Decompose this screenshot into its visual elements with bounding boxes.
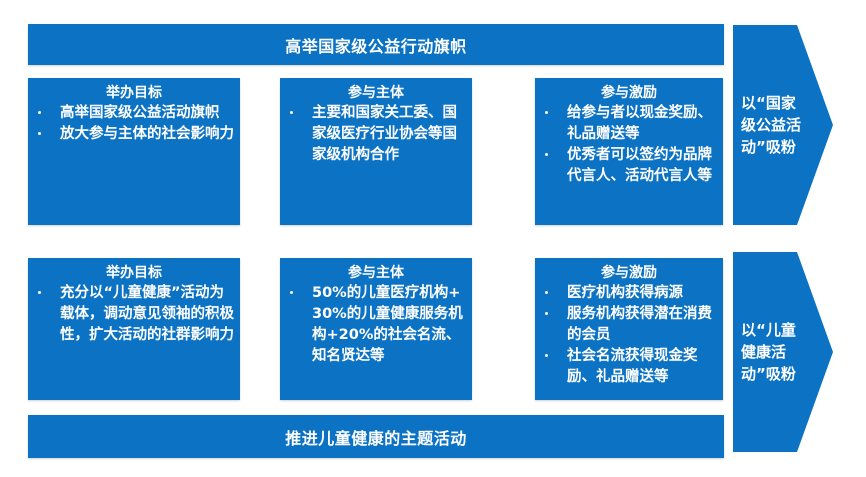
slide-canvas: 高举国家级公益行动旗帜 举办目标 高举国家级公益活动旗帜 放大参与主体的社会影响… (0, 0, 866, 477)
list-item-text: 高举国家级公益活动旗帜 (60, 105, 220, 121)
list-item: 主要和国家关工委、国家级医疗行业协会等国家级机构合作 (286, 103, 466, 166)
list-item: 放大参与主体的社会影响力 (34, 124, 234, 145)
bullet-dot-icon (545, 354, 548, 357)
arrow-label: 以“儿童健康活动”吸粉 (733, 319, 803, 385)
bullet-list: 给参与者以现金奖励、礼品赠送等 优秀者可以签约为品牌代言人、活动代言人等 (535, 103, 723, 187)
arrow-label: 以“国家级公益活动”吸粉 (733, 92, 803, 158)
bottom-banner: 推进儿童健康的主题活动 (28, 415, 724, 458)
card-title: 举办目标 (28, 84, 240, 102)
bullet-dot-icon (545, 153, 548, 156)
bullet-list: 高举国家级公益活动旗帜 放大参与主体的社会影响力 (28, 103, 240, 145)
bullet-dot-icon (545, 291, 548, 294)
bullet-dot-icon (290, 111, 293, 114)
arrow-row2-outcome[interactable]: 以“儿童健康活动”吸粉 (733, 252, 833, 452)
list-item: 医疗机构获得病源 (541, 283, 717, 304)
card-title: 参与主体 (280, 264, 472, 282)
bullet-list: 50%的儿童医疗机构+30%的儿童健康服务机构+20%的社会名流、知名贤达等 (280, 283, 472, 367)
bullet-list: 主要和国家关工委、国家级医疗行业协会等国家级机构合作 (280, 103, 472, 166)
card-title: 参与主体 (280, 84, 472, 102)
list-item: 50%的儿童医疗机构+30%的儿童健康服务机构+20%的社会名流、知名贤达等 (286, 283, 466, 367)
card-title: 举办目标 (28, 264, 240, 282)
list-item: 优秀者可以签约为品牌代言人、活动代言人等 (541, 145, 717, 187)
top-banner: 高举国家级公益行动旗帜 (28, 24, 724, 65)
list-item-text: 医疗机构获得病源 (567, 285, 683, 301)
list-item: 高举国家级公益活动旗帜 (34, 103, 234, 124)
list-item-text: 充分以“儿童健康”活动为载体，调动意见领袖的积极性，扩大活动的社群影响力 (60, 285, 234, 343)
card-row2-incentives[interactable]: 参与激励 医疗机构获得病源 服务机构获得潜在消费的会员 社会名流获得现金奖励、礼… (535, 258, 723, 400)
list-item-text: 放大参与主体的社会影响力 (60, 126, 234, 142)
card-row2-objective[interactable]: 举办目标 充分以“儿童健康”活动为载体，调动意见领袖的积极性，扩大活动的社群影响… (28, 258, 240, 400)
bullet-list: 充分以“儿童健康”活动为载体，调动意见领袖的积极性，扩大活动的社群影响力 (28, 283, 240, 346)
bullet-dot-icon (545, 312, 548, 315)
arrow-row1-outcome[interactable]: 以“国家级公益活动”吸粉 (733, 25, 833, 225)
list-item-text: 社会名流获得现金奖励、礼品赠送等 (567, 348, 698, 385)
bullet-dot-icon (38, 132, 41, 135)
list-item-text: 50%的儿童医疗机构+30%的儿童健康服务机构+20%的社会名流、知名贤达等 (312, 285, 463, 364)
card-row1-objective[interactable]: 举办目标 高举国家级公益活动旗帜 放大参与主体的社会影响力 (28, 78, 240, 225)
card-row1-participants[interactable]: 参与主体 主要和国家关工委、国家级医疗行业协会等国家级机构合作 (280, 78, 472, 225)
list-item-text: 优秀者可以签约为品牌代言人、活动代言人等 (567, 147, 712, 184)
card-title: 参与激励 (535, 84, 723, 102)
list-item: 服务机构获得潜在消费的会员 (541, 304, 717, 346)
card-row2-participants[interactable]: 参与主体 50%的儿童医疗机构+30%的儿童健康服务机构+20%的社会名流、知名… (280, 258, 472, 400)
bullet-dot-icon (38, 111, 41, 114)
bullet-dot-icon (290, 291, 293, 294)
card-title: 参与激励 (535, 264, 723, 282)
bullet-list: 医疗机构获得病源 服务机构获得潜在消费的会员 社会名流获得现金奖励、礼品赠送等 (535, 283, 723, 388)
list-item-text: 主要和国家关工委、国家级医疗行业协会等国家级机构合作 (312, 105, 457, 163)
bullet-dot-icon (38, 291, 41, 294)
list-item: 社会名流获得现金奖励、礼品赠送等 (541, 346, 717, 388)
list-item: 给参与者以现金奖励、礼品赠送等 (541, 103, 717, 145)
list-item-text: 给参与者以现金奖励、礼品赠送等 (567, 105, 712, 142)
bullet-dot-icon (545, 111, 548, 114)
card-row1-incentives[interactable]: 参与激励 给参与者以现金奖励、礼品赠送等 优秀者可以签约为品牌代言人、活动代言人… (535, 78, 723, 225)
list-item-text: 服务机构获得潜在消费的会员 (567, 306, 712, 343)
list-item: 充分以“儿童健康”活动为载体，调动意见领袖的积极性，扩大活动的社群影响力 (34, 283, 234, 346)
